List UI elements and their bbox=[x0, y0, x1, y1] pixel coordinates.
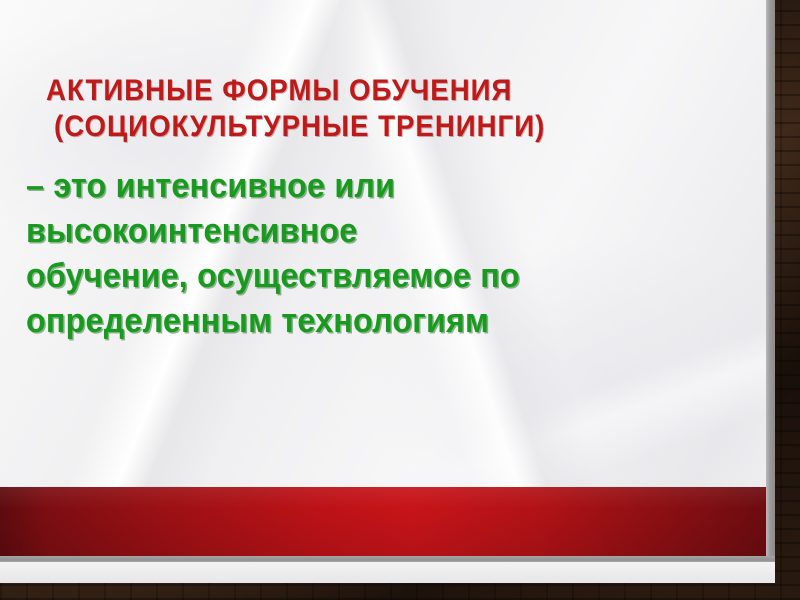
slide-margin-bottom bbox=[0, 562, 775, 583]
slide-body-line-3: обучение, осуществляемое по bbox=[26, 254, 710, 299]
slide-body-line-1: – это интенсивное или bbox=[26, 164, 710, 209]
slide-title: АКТИВНЫЕ ФОРМЫ ОБУЧЕНИЯ (СОЦИОКУЛЬТУРНЫЕ… bbox=[46, 73, 726, 145]
slide-edge-right bbox=[766, 0, 775, 564]
slide-title-line-2: (СОЦИОКУЛЬТУРНЫЕ ТРЕНИНГИ) bbox=[54, 109, 672, 145]
slide-body-text: – это интенсивное или высокоинтенсивное … bbox=[26, 164, 746, 344]
slide-body-line-4: определенным технологиям bbox=[26, 299, 710, 344]
presentation-slide: АКТИВНЫЕ ФОРМЫ ОБУЧЕНИЯ (СОЦИОКУЛЬТУРНЫЕ… bbox=[0, 0, 775, 583]
slide-body-line-2: высокоинтенсивное bbox=[26, 209, 710, 254]
slide-title-line-1: АКТИВНЫЕ ФОРМЫ ОБУЧЕНИЯ bbox=[46, 73, 672, 109]
red-accent-bar bbox=[0, 487, 766, 557]
